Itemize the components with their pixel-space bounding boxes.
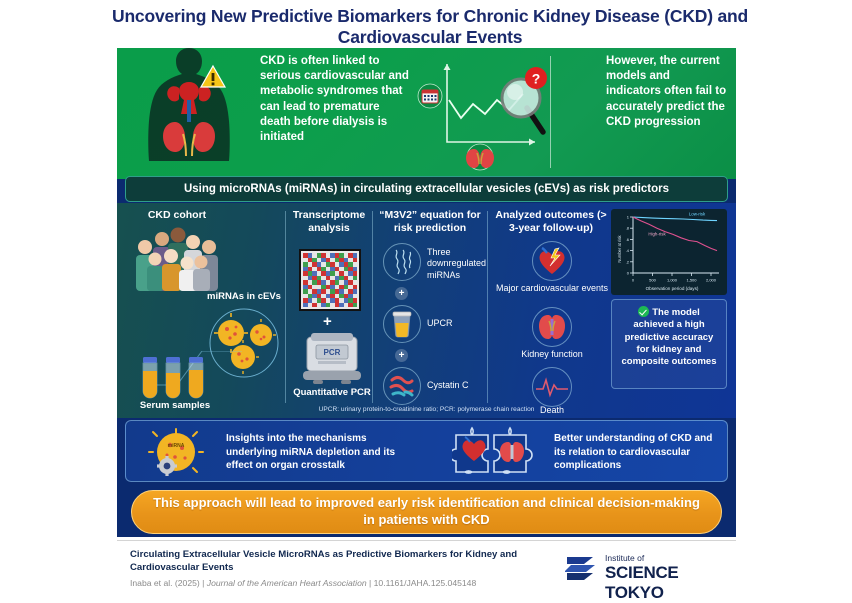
institute-logo: Institute of SCIENCE TOKYO [565,552,725,588]
pcr-machine-icon: PCR [301,331,363,387]
death-ecg-icon [532,367,572,407]
upcr-label: UPCR [427,318,489,329]
science-tokyo-mark-icon [565,552,601,584]
transcriptome-heatmap-icon [299,249,361,311]
cystatin-c-protein-icon [383,367,421,405]
citation-doi: 10.1161/JAHA.125.045148 [374,578,477,588]
model-accuracy-text: The model achieved a high predictive acc… [621,307,716,367]
svg-text:?: ? [532,71,541,87]
approach-banner: Using microRNAs (miRNAs) in circulating … [125,176,728,202]
citation-journal: Journal of the American Heart Associatio… [207,578,367,588]
quantitative-pcr-label: Quantitative PCR [293,387,371,399]
conclusion-banner: This approach will lead to improved earl… [131,490,722,534]
calendar-icon [418,84,442,108]
kidney-function-icon [532,307,572,347]
svg-text:1: 1 [627,215,630,220]
magnifier-question-icon: ? [502,67,547,132]
workflow-divider-3 [487,211,488,403]
green-divider [550,56,551,168]
svg-text:2,000: 2,000 [706,278,717,283]
svg-text:miRNA: miRNA [168,443,185,449]
col-heading-ckd-cohort: CKD cohort [127,209,227,222]
green-icons-cluster: ? [417,56,547,174]
page-title: Uncovering New Predictive Biomarkers for… [110,6,750,49]
mace-label: Major cardiovascular events [493,283,611,294]
infographic-page: Uncovering New Predictive Biomarkers for… [0,0,852,600]
citation-sep-1: | [200,578,207,588]
paper-title: Circulating Extracellular Vesicle MicroR… [130,549,530,575]
three-mirnas-label: Three downregulated miRNAs [427,247,489,281]
kidney-function-label: Kidney function [493,349,611,360]
plus-operator-2: + [395,349,408,362]
svg-text:Low-risk: Low-risk [689,212,706,217]
mirnas-in-cevs-label: miRNAs in cEVs [201,291,287,303]
check-icon [638,306,649,317]
insight-right-text: Better understanding of CKD and its rela… [554,432,722,473]
svg-text:1,000: 1,000 [667,278,678,283]
footer-divider [117,540,736,541]
three-mirnas-icon [383,243,421,281]
graphic-frame: CKD is often linked to serious cardiovas… [117,48,736,537]
green-left-text: CKD is often linked to serious cardiovas… [260,54,410,145]
plus-operator-1: + [395,287,408,300]
mace-heart-icon [532,241,572,281]
col-heading-outcomes: Analyzed outcomes (> 3-year follow-up) [493,209,609,235]
svg-text:High-risk: High-risk [648,232,666,237]
insights-panel: miRNA Insights into the mechanisms under… [125,420,728,482]
svg-text:.4: .4 [626,248,630,253]
logo-line-2: SCIENCE TOKYO [605,563,725,603]
workflow-divider-2 [372,211,373,403]
col-heading-m3v2: “M3V2” equation for risk prediction [377,209,483,235]
green-problem-section: CKD is often linked to serious cardiovas… [117,48,736,179]
survival-chart-panel: 0.2.4 .6.81 05001,000 1,5002,000 Observa… [611,209,727,295]
svg-text:500: 500 [649,278,656,283]
serum-tubes-icon [133,353,219,405]
plus-sign-transcriptome: + [323,313,332,330]
approach-banner-text: Using microRNAs (miRNAs) in circulating … [184,183,669,195]
conclusion-text: This approach will lead to improved earl… [132,495,721,529]
green-right-text: However, the current models and indicato… [606,54,728,130]
svg-text:.2: .2 [626,259,630,264]
logo-line-1: Institute of [605,553,644,563]
kaplan-meier-chart: 0.2.4 .6.81 05001,000 1,5002,000 Observa… [611,209,727,295]
workflow-section: CKD cohort miRNAs in cEVs [117,203,736,418]
vesicle-gear-icon: miRNA [146,427,204,477]
body-silhouette-icon [123,48,255,184]
upcr-urine-cup-icon [383,305,421,343]
svg-text:Number at risk: Number at risk [617,234,622,262]
paper-citation: Inaba et al. (2025) | Journal of the Ame… [130,578,550,589]
col-heading-transcriptome: Transcriptome analysis [289,209,369,235]
citation-authors: Inaba et al. (2025) [130,578,200,588]
svg-text:.8: .8 [626,226,630,231]
insight-left-text: Insights into the mechanisms underlying … [226,432,416,473]
cystatin-c-label: Cystatin C [427,380,489,391]
ckd-cohort-people-icon [131,225,227,297]
kidney-icon [466,144,494,170]
svg-text:1,500: 1,500 [686,278,697,283]
puzzle-heart-kidney-icon [452,425,544,479]
svg-text:Observation period (days): Observation period (days) [646,286,699,291]
model-accuracy-statement: The model achieved a high predictive acc… [611,299,727,389]
svg-text:0: 0 [632,278,635,283]
abbreviations-footnote: UPCR: urinary protein-to-creatinine rati… [117,406,736,413]
svg-text:.6: .6 [626,237,630,242]
svg-text:0: 0 [627,271,630,276]
citation-sep-2: | [367,578,374,588]
svg-text:PCR: PCR [324,348,341,357]
